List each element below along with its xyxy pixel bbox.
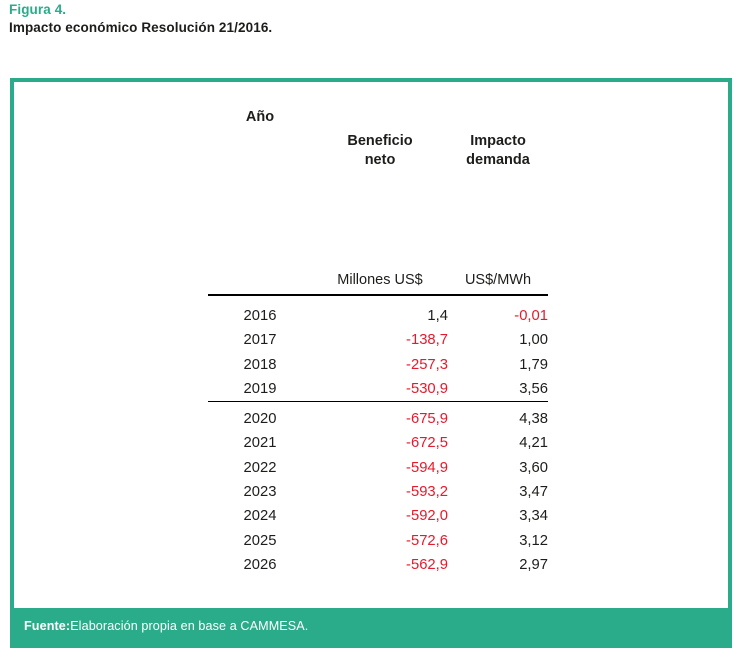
table-row: 2022-594,93,60: [208, 456, 548, 480]
table-row: 20161,4-0,01: [208, 304, 548, 328]
header-impact: Impacto demanda: [448, 82, 548, 170]
spacer-cell-benefit: [312, 170, 448, 266]
header-spacer-row: [208, 170, 548, 266]
cell-year: 2025: [208, 529, 312, 553]
source-label: Fuente:: [24, 619, 70, 633]
table-row: 2025-572,63,12: [208, 529, 548, 553]
table-row: 2018-257,31,79: [208, 353, 548, 377]
cell-benefit-neto: -593,2: [312, 480, 448, 504]
figure-caption: Figura 4. Impacto económico Resolución 2…: [9, 1, 709, 38]
table-head: Año Beneficio neto Impacto demanda: [208, 82, 548, 304]
rule-segment-benefit: [312, 295, 448, 304]
unit-benefit: Millones US$: [312, 266, 448, 295]
table-header-row: Año Beneficio neto Impacto demanda: [208, 82, 548, 170]
cell-benefit-neto: -138,7: [312, 328, 448, 352]
spacer-cell-impact: [448, 170, 548, 266]
figure-frame: Año Beneficio neto Impacto demanda: [10, 78, 732, 648]
table-row: 2021-672,54,21: [208, 431, 548, 455]
rule-segment-impact: [448, 295, 548, 304]
figure-source-text: Fuente:Elaboración propia en base a CAMM…: [24, 619, 308, 633]
cell-benefit-neto: -672,5: [312, 431, 448, 455]
table-row: 2017-138,71,00: [208, 328, 548, 352]
table-row: 2024-592,03,34: [208, 504, 548, 528]
cell-impacto-demanda: -0,01: [448, 304, 548, 328]
cell-impacto-demanda: 3,47: [448, 480, 548, 504]
spacer-cell-year: [208, 170, 312, 266]
header-benefit: Beneficio neto: [312, 82, 448, 170]
table-row: 2023-593,23,47: [208, 480, 548, 504]
header-benefit-line1: Beneficio: [347, 133, 412, 149]
figure-title: Impacto económico Resolución 21/2016.: [9, 18, 709, 38]
cell-impacto-demanda: 3,60: [448, 456, 548, 480]
header-impact-line2: demanda: [466, 152, 530, 168]
cell-year: 2016: [208, 304, 312, 328]
cell-impacto-demanda: 3,56: [448, 377, 548, 402]
cell-year: 2020: [208, 407, 312, 431]
table-row: 2019-530,93,56: [208, 377, 548, 402]
cell-benefit-neto: -257,3: [312, 353, 448, 377]
figure-body: Año Beneficio neto Impacto demanda: [14, 82, 728, 612]
cell-impacto-demanda: 2,97: [448, 553, 548, 577]
cell-year: 2018: [208, 353, 312, 377]
cell-year: 2024: [208, 504, 312, 528]
table-row: 2026-562,92,97: [208, 553, 548, 577]
table-row: 2020-675,94,38: [208, 407, 548, 431]
cell-benefit-neto: -530,9: [312, 377, 448, 402]
header-benefit-line2: neto: [365, 152, 396, 168]
cell-impacto-demanda: 4,21: [448, 431, 548, 455]
economic-impact-table: Año Beneficio neto Impacto demanda: [208, 82, 548, 577]
figure-page: Figura 4. Impacto económico Resolución 2…: [0, 0, 750, 668]
table-top-rule: [208, 295, 548, 304]
cell-benefit-neto: -594,9: [312, 456, 448, 480]
cell-benefit-neto: -562,9: [312, 553, 448, 577]
header-impact-line1: Impacto: [470, 133, 526, 149]
cell-impacto-demanda: 4,38: [448, 407, 548, 431]
cell-year: 2021: [208, 431, 312, 455]
unit-year: [208, 266, 312, 295]
units-row: Millones US$ US$/MWh: [208, 266, 548, 295]
cell-year: 2022: [208, 456, 312, 480]
cell-impacto-demanda: 1,00: [448, 328, 548, 352]
cell-year: 2023: [208, 480, 312, 504]
cell-impacto-demanda: 1,79: [448, 353, 548, 377]
cell-year: 2017: [208, 328, 312, 352]
cell-benefit-neto: -572,6: [312, 529, 448, 553]
cell-impacto-demanda: 3,34: [448, 504, 548, 528]
cell-impacto-demanda: 3,12: [448, 529, 548, 553]
cell-year: 2019: [208, 377, 312, 402]
unit-impact: US$/MWh: [448, 266, 548, 295]
cell-benefit-neto: 1,4: [312, 304, 448, 328]
figure-source-bar: Fuente:Elaboración propia en base a CAMM…: [14, 608, 728, 644]
figure-number-label: Figura 4.: [9, 1, 709, 18]
source-value: Elaboración propia en base a CAMMESA.: [70, 619, 308, 633]
cell-year: 2026: [208, 553, 312, 577]
rule-segment-year: [208, 295, 312, 304]
cell-benefit-neto: -675,9: [312, 407, 448, 431]
table-body: 20161,4-0,012017-138,71,002018-257,31,79…: [208, 304, 548, 577]
header-year: Año: [208, 82, 312, 170]
cell-benefit-neto: -592,0: [312, 504, 448, 528]
